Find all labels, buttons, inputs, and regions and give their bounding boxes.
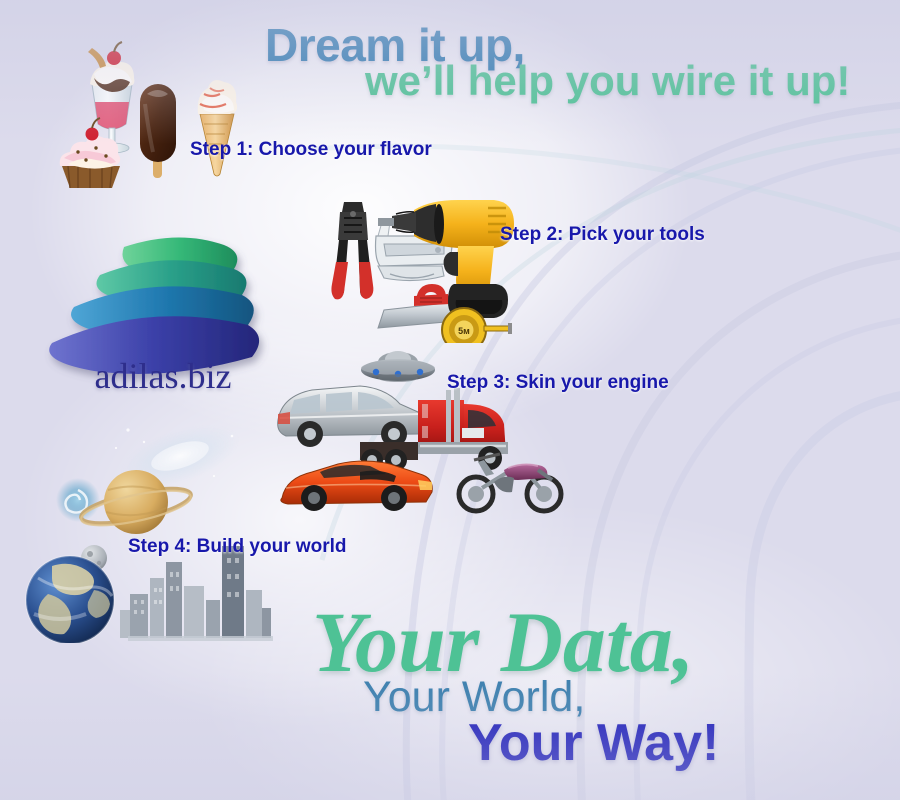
sports-car-icon xyxy=(281,461,432,511)
city-skyline-icon xyxy=(120,546,273,641)
step-4-label: Step 4: Build your world xyxy=(128,536,347,558)
vehicles-illustration-group xyxy=(268,342,568,522)
step-2-label: Step 2: Pick your tools xyxy=(500,224,705,246)
tape-measure-text: 5м xyxy=(458,326,470,336)
poster: Dream it up, we’ll help you wire it up! xyxy=(0,0,900,800)
motorcycle-icon xyxy=(459,454,561,511)
wire-stripper-icon xyxy=(331,202,373,299)
world-illustration-group xyxy=(8,418,273,643)
step-1-label: Step 1: Choose your flavor xyxy=(190,139,432,161)
step-3-label: Step 3: Skin your engine xyxy=(447,372,669,394)
spiral-galaxy-small-icon xyxy=(56,478,100,522)
ufo-icon xyxy=(361,351,435,382)
headline-line-2: we’ll help you wire it up! xyxy=(365,57,850,105)
minivan-icon xyxy=(278,386,427,447)
flavor-illustration-group xyxy=(48,28,248,188)
waffle-cone-icon xyxy=(198,80,237,176)
earth-globe-icon xyxy=(26,556,114,643)
tools-illustration-group: 5м xyxy=(318,188,528,343)
adilas-logo-wordmark[interactable]: adilas.biz xyxy=(58,355,268,397)
tagline-your-way: Your Way! xyxy=(468,713,719,773)
popsicle-bar-icon xyxy=(140,84,176,178)
